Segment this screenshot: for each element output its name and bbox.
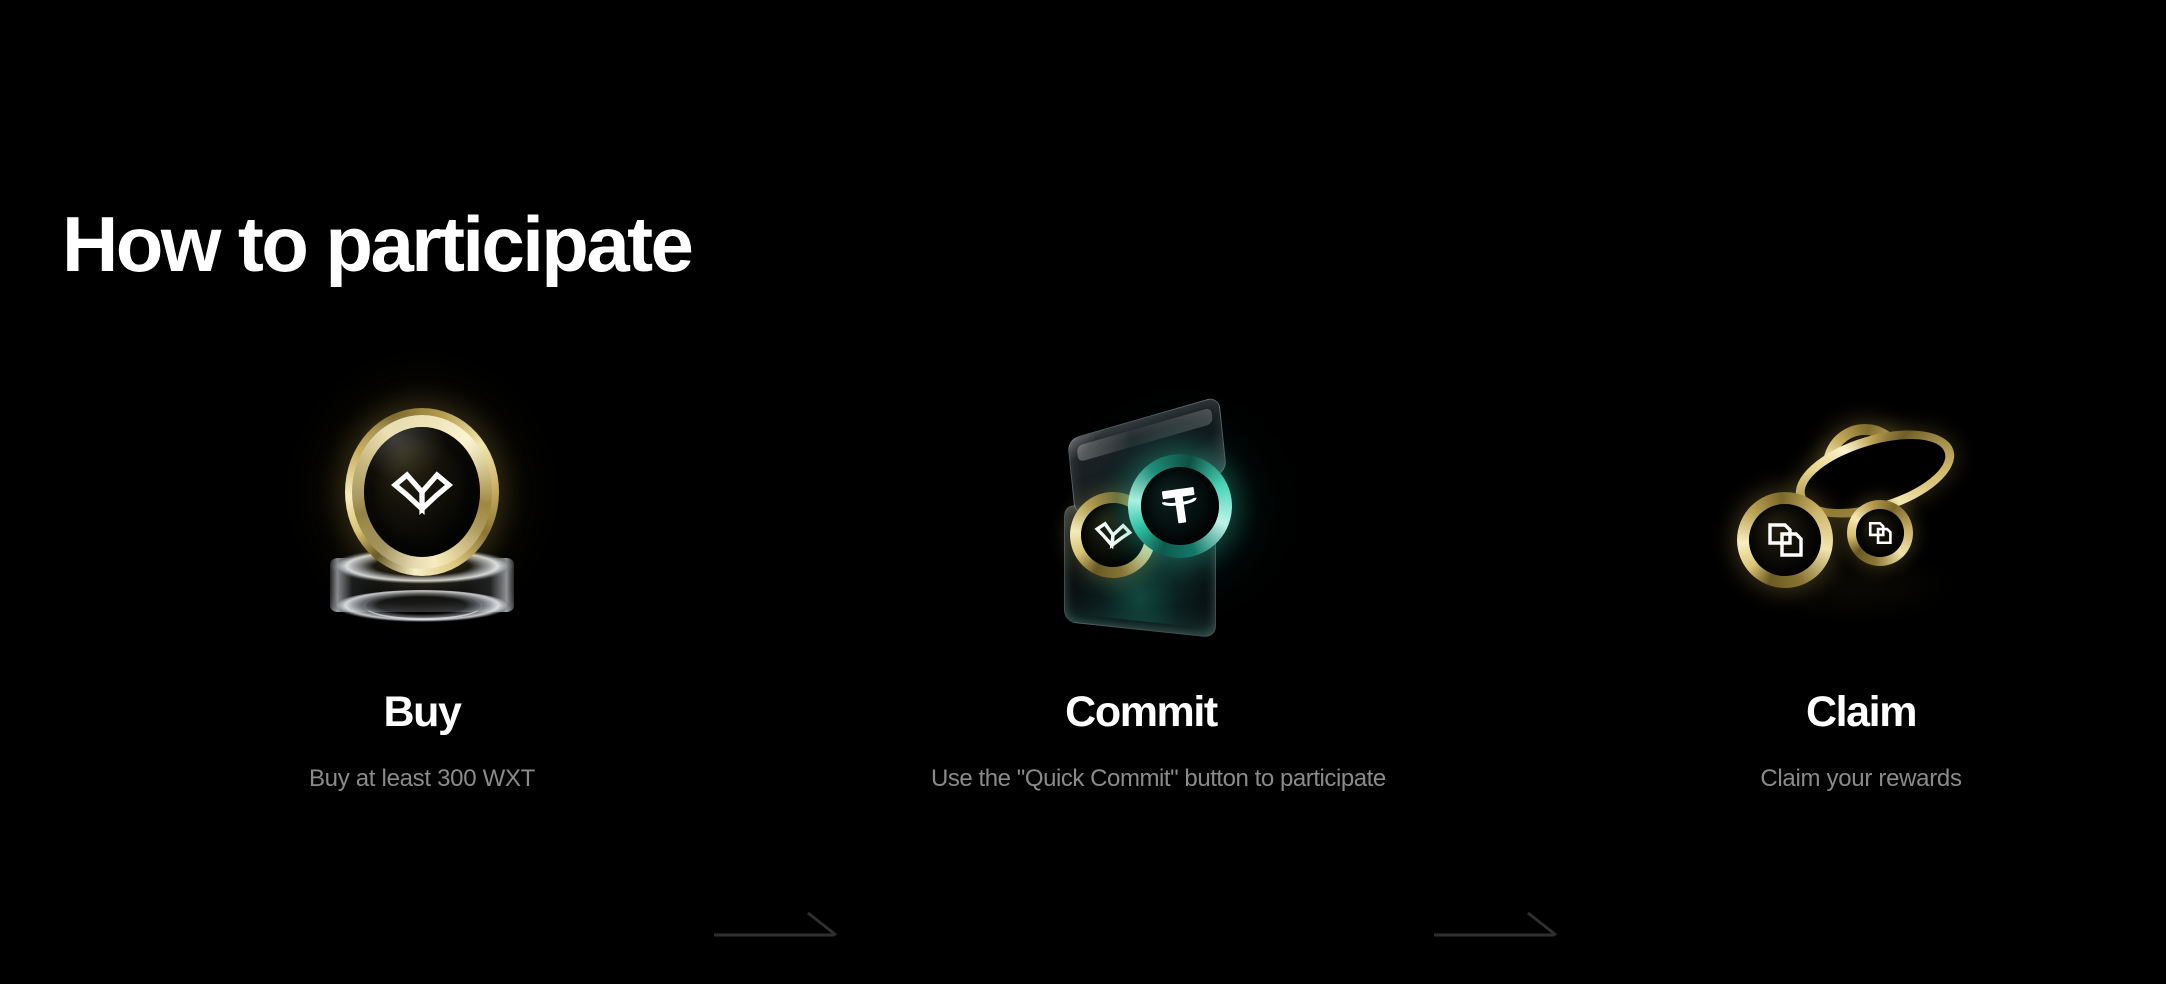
- step-card-claim: Claim Claim your rewards: [1651, 400, 2071, 794]
- page-title: How to participate: [62, 205, 691, 283]
- wxt-logo-icon: [1093, 519, 1134, 551]
- reward-coin-icon: [1737, 492, 1833, 588]
- ringed-planet-with-coins-icon: [1731, 400, 1991, 645]
- step-illustration-buy: [212, 400, 632, 645]
- step-card-buy: Buy Buy at least 300 WXT: [212, 400, 632, 794]
- step-illustration-claim: [1651, 400, 2071, 645]
- glass-chest-with-coins-icon: [1016, 400, 1266, 645]
- step-title: Claim: [1651, 690, 2071, 735]
- how-to-participate-section: How to participate: [0, 0, 2166, 984]
- wxt-logo-icon: [391, 469, 453, 515]
- steps-row: Buy Buy at least 300 WXT: [0, 400, 2166, 870]
- tether-logo-icon: [1154, 480, 1206, 532]
- step-description: Buy at least 300 WXT: [212, 765, 632, 794]
- step-description: Use the "Quick Commit" button to partici…: [931, 765, 1351, 794]
- arrow-right-icon: [712, 902, 862, 954]
- step-illustration-commit: [931, 400, 1351, 645]
- step-card-commit: Commit Use the "Quick Commit" button to …: [931, 400, 1351, 794]
- reward-logo-icon: [1867, 520, 1893, 546]
- wxt-coin-icon: [345, 408, 499, 576]
- step-title: Buy: [212, 690, 632, 735]
- step-description: Claim your rewards: [1651, 765, 2071, 794]
- reward-logo-icon: [1765, 520, 1805, 560]
- gold-coin-on-pedestal-icon: [307, 400, 537, 645]
- step-title: Commit: [931, 690, 1351, 735]
- reward-coin-icon: [1847, 500, 1913, 566]
- arrow-right-icon: [1432, 902, 1582, 954]
